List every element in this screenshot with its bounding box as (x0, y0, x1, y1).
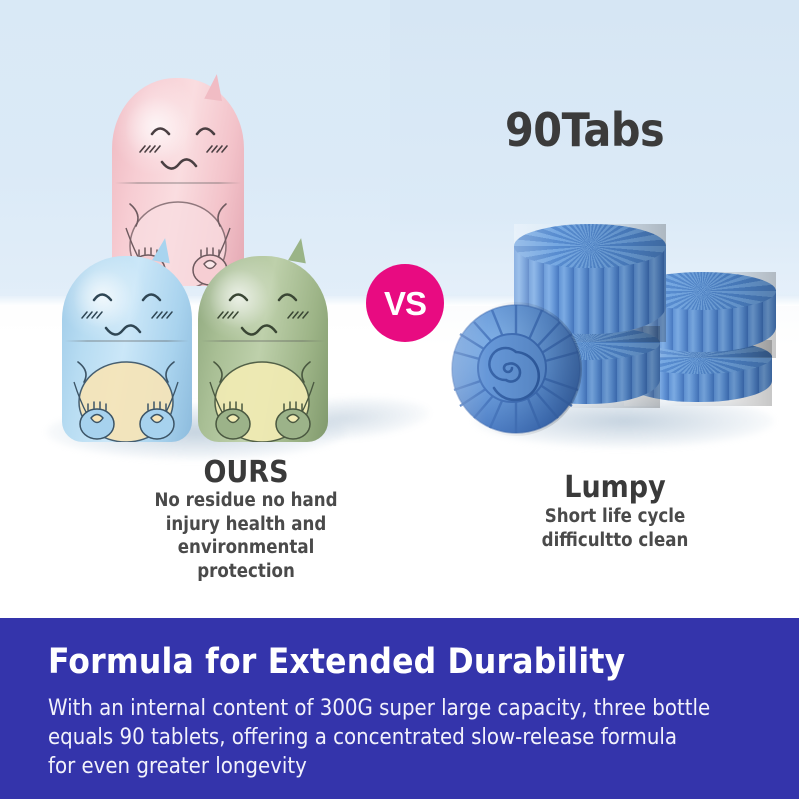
banner-body-line: for even greater longevity (48, 752, 748, 781)
tablet-spiral-face (450, 302, 582, 436)
ours-description-line: environmental (86, 536, 406, 560)
ours-description-line: protection (86, 560, 406, 584)
formula-banner: Formula for Extended Durability With an … (0, 618, 799, 799)
tablet-front-spiral (450, 302, 582, 436)
vs-badge-label: VS (384, 287, 426, 320)
blue-bottle-seam (65, 340, 190, 342)
pink-bottle-seam (115, 182, 242, 184)
pink-dinosaur-bottle (112, 78, 244, 286)
green-dinosaur-face (198, 256, 328, 442)
lumpy-description-line: difficultto clean (460, 529, 770, 553)
product-comparison-infographic: VS 90Tabs OURS No residue no hand injury… (0, 0, 799, 799)
banner-body-line: With an internal content of 300G super l… (48, 694, 748, 723)
ours-description: No residue no hand injury health and env… (86, 489, 406, 584)
banner-body-line: equals 90 tablets, offering a concentrat… (48, 723, 748, 752)
lumpy-description: Short life cycle difficultto clean (460, 505, 770, 552)
ours-description-line: No residue no hand (86, 489, 406, 513)
green-dinosaur-bottle (198, 256, 328, 442)
blue-dinosaur-face (62, 256, 192, 442)
banner-body: With an internal content of 300G super l… (48, 694, 748, 781)
tabs-count-heading: 90Tabs (505, 103, 664, 157)
lumpy-title: Lumpy (470, 470, 760, 505)
vs-badge: VS (366, 264, 444, 342)
ours-description-line: injury health and (86, 513, 406, 537)
product-photo-scene: VS 90Tabs OURS No residue no hand injury… (0, 0, 799, 618)
tablet-center-upper-top (514, 224, 666, 268)
ours-title: OURS (96, 455, 396, 490)
green-bottle-seam (201, 340, 326, 342)
lumpy-description-line: Short life cycle (460, 505, 770, 529)
banner-title: Formula for Extended Durability (48, 644, 755, 681)
blue-dinosaur-bottle (62, 256, 192, 442)
